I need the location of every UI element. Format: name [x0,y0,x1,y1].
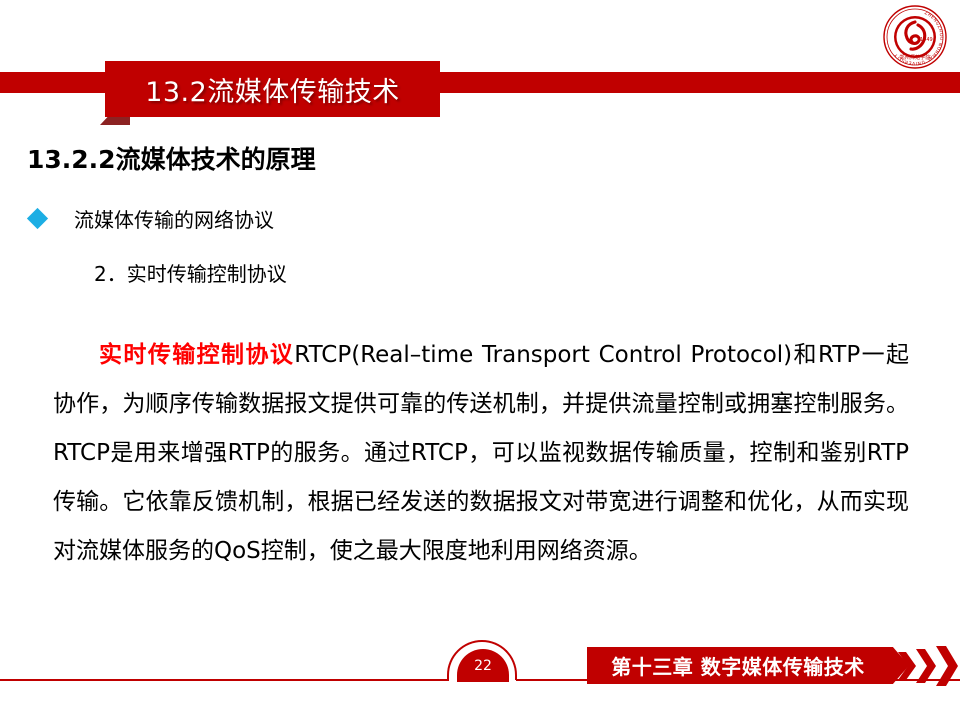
paragraph-body-text: RTCP(Real–time Transport Control Protoco… [53,342,909,564]
slide-header: 13.2流媒体传输技术 1949 ZHENGZHOU NORMAL UNIVER… [0,0,960,130]
bullet-list-item: 流媒体传输的网络协议 [30,204,274,233]
triple-chevron-right-icon [896,645,958,687]
slide-title: 13.2流媒体传输技术 [105,61,440,117]
sub-item-label: 2．实时传输控制协议 [94,258,287,287]
footer-banner: 第十三章 数字媒体传输技术 [587,647,909,684]
bullet-item-label: 流媒体传输的网络协议 [74,204,274,233]
diamond-bullet-icon [27,208,48,229]
slide-footer: 22 第十三章 数字媒体传输技术 [0,640,960,720]
section-heading: 13.2.2流媒体技术的原理 [27,140,316,176]
slide-title-block: 13.2流媒体传输技术 [105,61,440,117]
footer-chapter-title: 第十三章 数字媒体传输技术 [587,647,889,684]
footer-rule-left [0,679,449,681]
university-seal-logo: 1949 ZHENGZHOU NORMAL UNIVERSITY 郑州师范学院 [882,4,948,70]
page-number-badge: 22 [447,640,519,682]
svg-text:郑州师范学院: 郑州师范学院 [899,53,931,61]
paragraph-highlight-term: 实时传输控制协议 [99,342,294,368]
body-paragraph: 实时传输控制协议RTCP(Real–time Transport Control… [53,331,909,576]
svg-text:1949: 1949 [920,37,933,43]
page-number: 22 [457,649,509,682]
